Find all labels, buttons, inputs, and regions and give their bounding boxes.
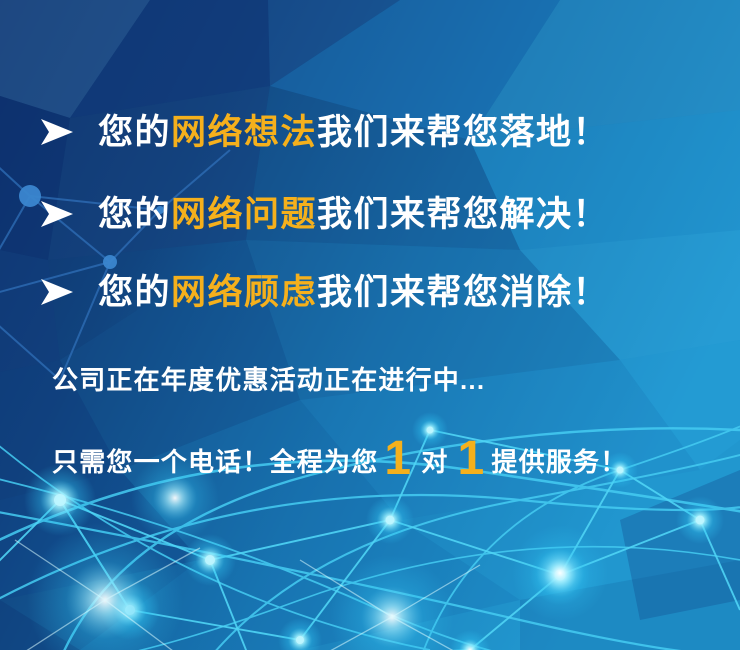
headline-text-3: 您的网络顾虑我们来帮您消除！: [98, 275, 609, 310]
headline-2-highlight: 网络问题: [171, 195, 317, 234]
promo-subtext-line-1: 公司正在年度优惠活动正在进行中...: [52, 367, 485, 393]
headline-text-1: 您的网络想法我们来帮您落地！: [98, 115, 609, 150]
subtext-2-middle: 对: [418, 449, 451, 475]
headline-2-prefix: 您的: [98, 195, 171, 234]
arrow-right-triangle-icon: [40, 117, 74, 147]
headline-3-highlight: 网络顾虑: [171, 273, 317, 312]
headline-1-highlight: 网络想法: [171, 113, 317, 152]
banner-content: 您的网络想法我们来帮您落地！ 您的网络问题我们来帮您解决！ 您的网络顾虑我们来帮…: [0, 0, 740, 650]
subtext-2-part2: 提供服务！: [491, 449, 627, 475]
promo-subtext-line-2: 只需您一个电话！全程为您 1 对 1 提供服务！: [52, 432, 627, 480]
headline-3-suffix: 我们来帮您消除！: [317, 273, 609, 312]
headline-row-3: 您的网络顾虑我们来帮您消除！: [40, 264, 609, 320]
service-number-second: 1: [452, 435, 492, 483]
arrow-right-triangle-icon: [40, 199, 74, 229]
headline-3-prefix: 您的: [98, 273, 171, 312]
headline-row-1: 您的网络想法我们来帮您落地！: [40, 104, 609, 160]
headline-text-2: 您的网络问题我们来帮您解决！: [98, 197, 609, 232]
service-number-first: 1: [378, 435, 418, 483]
subtext-2-part1: 只需您一个电话！全程为您: [52, 449, 378, 475]
headline-2-suffix: 我们来帮您解决！: [317, 195, 609, 234]
arrow-right-triangle-icon: [40, 277, 74, 307]
headline-1-prefix: 您的: [98, 113, 171, 152]
headline-1-suffix: 我们来帮您落地！: [317, 113, 609, 152]
promo-banner: 您的网络想法我们来帮您落地！ 您的网络问题我们来帮您解决！ 您的网络顾虑我们来帮…: [0, 0, 740, 650]
headline-row-2: 您的网络问题我们来帮您解决！: [40, 186, 609, 242]
